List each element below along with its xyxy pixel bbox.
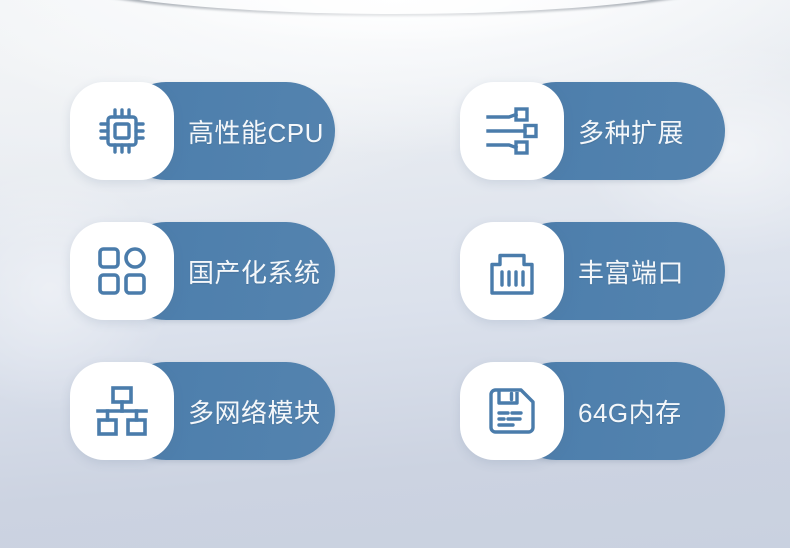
feature-badge-cpu — [70, 82, 174, 180]
feature-cell-expand: 多种扩展 — [445, 82, 780, 180]
feature-cell-cpu: 高性能CPU — [0, 82, 335, 180]
feature-label: 64G内存 — [578, 362, 682, 460]
feature-card-memory[interactable]: 64G内存 — [460, 362, 725, 460]
feature-badge-network — [70, 362, 174, 460]
feature-label: 多种扩展 — [578, 82, 684, 180]
apps-grid-icon — [95, 244, 149, 298]
feature-badge-memory — [460, 362, 564, 460]
feature-cell-ports: 丰富端口 — [445, 222, 780, 320]
feature-label: 国产化系统 — [188, 222, 321, 320]
floppy-memory-icon — [486, 385, 538, 437]
feature-label: 多网络模块 — [188, 362, 321, 460]
feature-highlight-banner: 高性能CPU — [0, 0, 790, 548]
feature-card-network[interactable]: 多网络模块 — [70, 362, 335, 460]
feature-badge-os — [70, 222, 174, 320]
feature-badge-ports — [460, 222, 564, 320]
feature-label: 丰富端口 — [578, 222, 684, 320]
feature-label: 高性能CPU — [188, 82, 324, 180]
cpu-chip-icon — [94, 103, 150, 159]
feature-badge-expand — [460, 82, 564, 180]
feature-cell-os: 国产化系统 — [0, 222, 335, 320]
network-sitemap-icon — [95, 384, 149, 438]
expansion-ports-icon — [484, 103, 540, 159]
feature-grid: 高性能CPU — [0, 0, 790, 548]
feature-card-expand[interactable]: 多种扩展 — [460, 82, 725, 180]
feature-cell-memory: 64G内存 — [445, 362, 780, 460]
feature-card-cpu[interactable]: 高性能CPU — [70, 82, 335, 180]
feature-card-os[interactable]: 国产化系统 — [70, 222, 335, 320]
feature-card-ports[interactable]: 丰富端口 — [460, 222, 725, 320]
ethernet-port-icon — [485, 244, 539, 298]
feature-cell-network: 多网络模块 — [0, 362, 335, 460]
